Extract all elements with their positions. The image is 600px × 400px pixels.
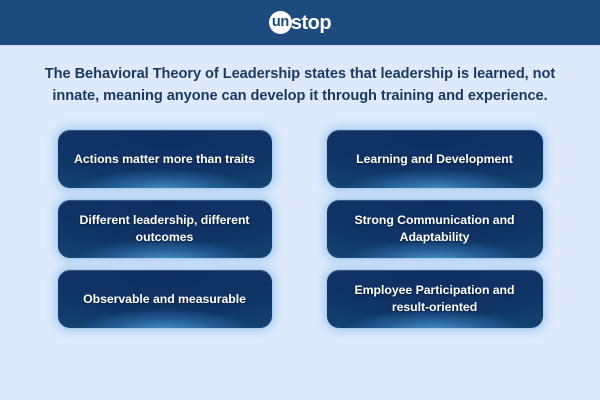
unstop-logo-icon[interactable]: un stop xyxy=(269,11,331,35)
card-label: Different leadership, different outcomes xyxy=(58,212,272,247)
card-label: Learning and Development xyxy=(346,151,523,168)
card-label: Observable and measurable xyxy=(73,291,256,308)
card-strong-communication-and-adaptability: Strong Communication and Adaptability xyxy=(326,199,544,259)
cards-grid: Actions matter more than traits Learning… xyxy=(0,107,600,400)
card-different-leadership-different-outcomes: Different leadership, different outcomes xyxy=(57,199,273,259)
card-observable-and-measurable: Observable and measurable xyxy=(57,269,273,329)
unstop-logo-wordmark: stop xyxy=(291,13,331,33)
unstop-logo-mark: un xyxy=(269,11,292,34)
card-label: Strong Communication and Adaptability xyxy=(327,212,543,247)
card-learning-and-development: Learning and Development xyxy=(326,129,544,189)
card-actions-matter-more-than-traits: Actions matter more than traits xyxy=(57,129,273,189)
card-label: Employee Participation and result-orient… xyxy=(327,282,543,317)
card-label: Actions matter more than traits xyxy=(64,151,265,168)
header-bar: un stop xyxy=(0,0,600,47)
infographic-root: un stop The Behavioral Theory of Leaders… xyxy=(0,0,600,400)
headline-text: The Behavioral Theory of Leadership stat… xyxy=(0,47,600,107)
card-employee-participation-and-result-oriented: Employee Participation and result-orient… xyxy=(326,269,544,329)
